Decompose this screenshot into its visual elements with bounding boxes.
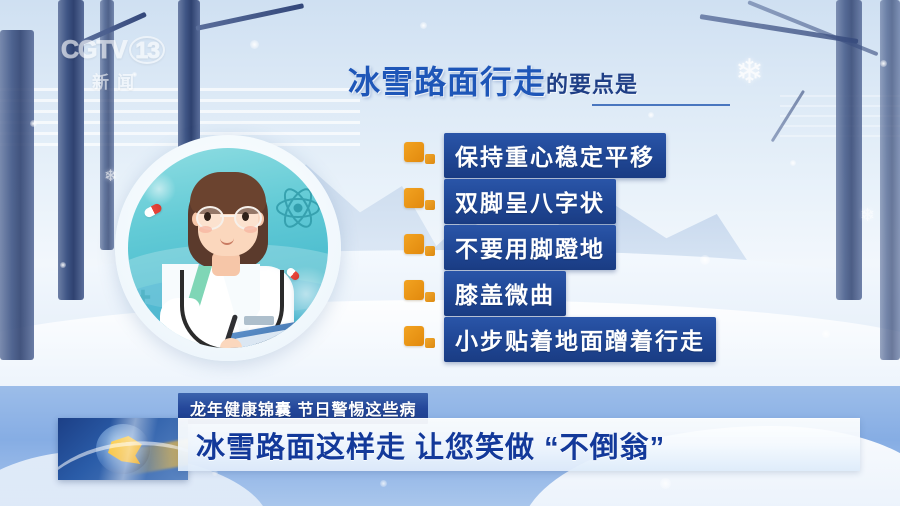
list-item: 保持重心稳定平移 — [404, 136, 716, 174]
topic-banner-label: 龙年健康锦囊 节日警惕这些病 — [190, 402, 416, 419]
tree-trunk-6 — [880, 0, 900, 360]
list-item: 双脚呈八字状 — [404, 182, 716, 220]
square-bullet-icon — [404, 232, 438, 262]
pill-capsule-icon — [143, 202, 163, 218]
headline-banner: 冰雪路面这样走 让您笑做 “不倒翁” — [178, 418, 860, 471]
atom-symbol-icon — [274, 184, 322, 232]
doctor-blush — [244, 226, 257, 233]
name-badge — [244, 316, 274, 325]
list-item-label: 小步贴着地面蹭着行走 — [444, 317, 716, 362]
tree-trunk-4 — [0, 30, 34, 360]
square-bullet-icon — [404, 186, 438, 216]
list-item: 膝盖微曲 — [404, 274, 716, 312]
list-item-label: 膝盖微曲 — [444, 271, 566, 316]
title-underline — [592, 104, 730, 106]
channel-logo: CGTV 13 新闻 — [58, 36, 168, 93]
list-item: 不要用脚蹬地 — [404, 228, 716, 266]
list-item-label: 双脚呈八字状 — [444, 179, 616, 224]
tips-list: 保持重心稳定平移 双脚呈八字状 不要用脚蹬地 膝盖微曲 小步贴着地面蹭着行走 — [404, 136, 716, 358]
channel-subtitle: 新闻 — [58, 68, 168, 93]
square-bullet-icon — [404, 140, 438, 170]
page-title: 冰雪路面行走 的要点是 — [348, 66, 638, 98]
page-title-suffix: 的要点是 — [546, 74, 638, 98]
broadcast-screen: ❄ ❄ ❄ CGTV 13 新闻 — [0, 0, 900, 506]
headline-banner-label: 冰雪路面这样走 让您笑做 “不倒翁” — [196, 424, 665, 466]
list-item-label: 保持重心稳定平移 — [444, 133, 666, 178]
channel-number: 13 — [129, 36, 165, 64]
doctor-eye — [204, 212, 211, 221]
doctor-illustration — [115, 135, 341, 361]
background-glow — [142, 172, 176, 206]
list-item-label: 不要用脚蹬地 — [444, 225, 616, 270]
doctor-eye — [242, 212, 249, 221]
channel-logo-text: CGTV — [61, 38, 126, 63]
page-title-emphasis: 冰雪路面行走 — [348, 66, 546, 98]
medical-cross-icon — [134, 288, 152, 306]
doctor-blush — [199, 226, 212, 233]
square-bullet-icon — [404, 278, 438, 308]
square-bullet-icon — [404, 324, 438, 354]
news-program-bug — [58, 418, 188, 480]
doctor-illustration-inner — [128, 148, 328, 348]
list-item: 小步贴着地面蹭着行走 — [404, 320, 716, 358]
